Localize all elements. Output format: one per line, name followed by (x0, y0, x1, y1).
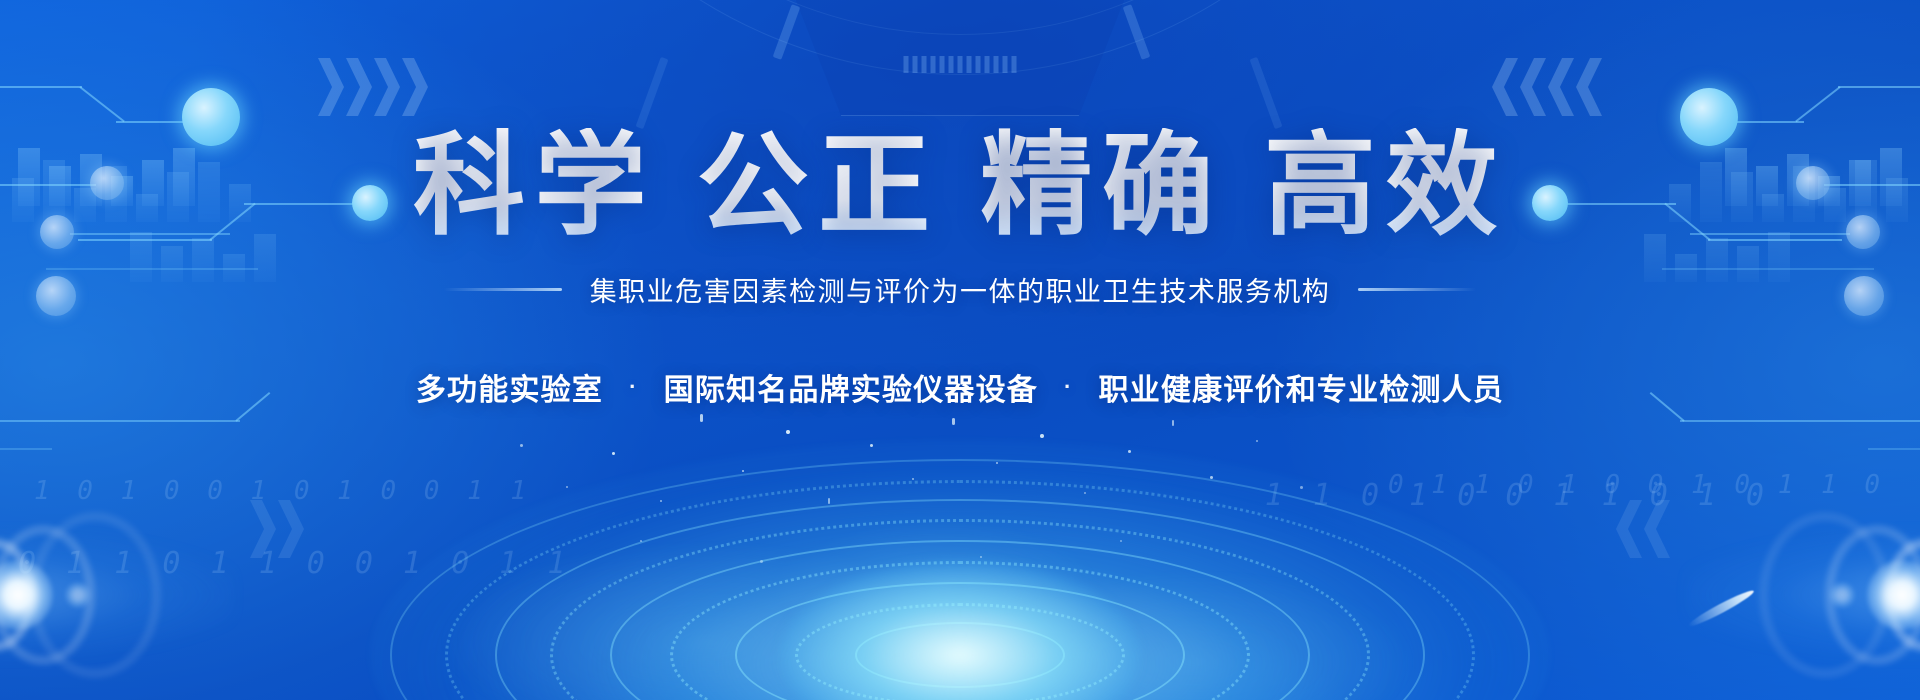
banner-content: 科学 公正 精确 高效 集职业危害因素检测与评价为一体的职业卫生技术服务机构 多… (0, 0, 1920, 700)
banner-subtitle-row: 集职业危害因素检测与评价为一体的职业卫生技术服务机构 (444, 270, 1477, 309)
divider-dash-left (444, 288, 562, 291)
feature-separator-2: · (1064, 374, 1073, 400)
banner-feature-list: 多功能实验室 · 国际知名品牌实验仪器设备 · 职业健康评价和专业检测人员 (416, 365, 1504, 409)
feature-item-2: 国际知名品牌实验仪器设备 (664, 365, 1038, 409)
banner-headline: 科学 公正 精确 高效 (413, 128, 1507, 244)
banner-subtitle: 集职业危害因素检测与评价为一体的职业卫生技术服务机构 (590, 270, 1331, 309)
feature-item-3: 职业健康评价和专业检测人员 (1099, 365, 1505, 409)
hero-banner: 1 0 1 0 0 1 0 1 0 0 1 1 0 1 1 0 1 1 0 0 … (0, 0, 1920, 700)
divider-dash-right (1358, 288, 1476, 291)
feature-separator-1: · (629, 374, 638, 400)
feature-item-1: 多功能实验室 (416, 365, 603, 409)
